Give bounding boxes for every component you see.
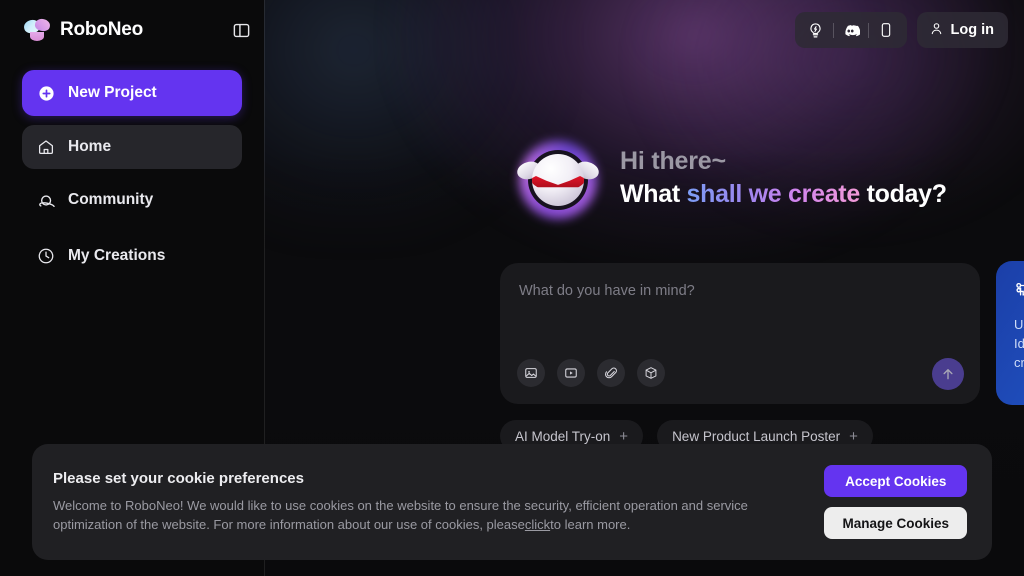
sidebar-item-home[interactable]: Home	[22, 125, 242, 169]
plus-icon[interactable]: +	[619, 429, 628, 444]
image-icon[interactable]	[517, 359, 545, 387]
accept-cookies-button[interactable]: Accept Cookies	[824, 465, 967, 497]
cookie-policy-link[interactable]: click	[525, 517, 550, 532]
sidebar-item-label: New Project	[68, 84, 157, 102]
cookie-banner-text: Please set your cookie preferences Welco…	[32, 470, 824, 535]
chip-label: New Product Launch Poster	[672, 429, 840, 444]
sidebar-item-my-creations[interactable]: My Creations	[22, 234, 242, 278]
workflow-card-header: Workflow New	[996, 261, 1024, 305]
brand-name: RoboNeo	[60, 19, 143, 41]
paperclip-attach-icon[interactable]	[597, 359, 625, 387]
mobile-phone-icon[interactable]	[869, 13, 903, 47]
panel-toggle-icon[interactable]	[230, 19, 252, 41]
login-label: Log in	[951, 22, 995, 38]
sidebar-nav: New Project Home Community	[0, 60, 264, 278]
cookie-desc-part1: Welcome to RoboNeo! We would like to use…	[53, 498, 748, 533]
greeting-gradient-text: shall we create	[687, 180, 860, 208]
header-actions: Log in	[795, 12, 1009, 48]
sidebar-item-new-project[interactable]: New Project	[22, 70, 242, 116]
composer-placeholder[interactable]: What do you have in mind?	[519, 283, 695, 299]
sidebar-item-community[interactable]: Community	[22, 178, 242, 222]
sidebar-item-label: My Creations	[68, 247, 165, 265]
greeting-prefix: What	[620, 180, 687, 208]
roboneo-mascot-avatar	[516, 138, 600, 222]
greeting-block: Hi there~ What shall we create today?	[516, 138, 947, 222]
manage-cookies-button[interactable]: Manage Cookies	[824, 507, 967, 539]
lightbulb-idea-icon[interactable]	[799, 13, 833, 47]
sidebar-item-label: Home	[68, 138, 111, 156]
workflow-nodes-icon	[1014, 281, 1024, 305]
header-icon-group	[795, 12, 907, 48]
cookie-banner-description: Welcome to RoboNeo! We would like to use…	[53, 496, 813, 535]
cookie-banner-title: Please set your cookie preferences	[53, 470, 824, 487]
greeting-hi: Hi there~	[620, 147, 947, 176]
chip-label: AI Model Try-on	[515, 429, 610, 444]
plus-icon[interactable]: +	[849, 429, 858, 444]
home-icon	[36, 137, 56, 157]
login-button[interactable]: Log in	[917, 12, 1009, 48]
workflow-card[interactable]: Workflow New Use nodes to build your cre…	[996, 261, 1024, 405]
cookie-banner-actions: Accept Cookies Manage Cookies	[824, 465, 992, 539]
composer-toolbar	[517, 359, 665, 387]
cookie-desc-part2: to learn more.	[550, 517, 630, 532]
planet-icon	[36, 190, 56, 210]
brand-row: RoboNeo	[0, 0, 264, 60]
cube-3d-icon[interactable]	[637, 359, 665, 387]
cookie-banner: Please set your cookie preferences Welco…	[32, 444, 992, 560]
plus-circle-icon	[36, 83, 56, 103]
greeting-question: What shall we create today?	[620, 180, 947, 209]
clock-icon	[36, 246, 56, 266]
user-icon	[929, 21, 944, 40]
workflow-card-description: Use nodes to build your creative workflo…	[996, 305, 1024, 373]
roboneo-logo-icon	[24, 19, 50, 41]
discord-icon[interactable]	[834, 13, 868, 47]
video-icon[interactable]	[557, 359, 585, 387]
greeting-suffix: today?	[860, 180, 947, 208]
prompt-composer[interactable]: What do you have in mind?	[500, 263, 980, 404]
send-button[interactable]	[932, 358, 964, 390]
sidebar-item-label: Community	[68, 191, 153, 209]
